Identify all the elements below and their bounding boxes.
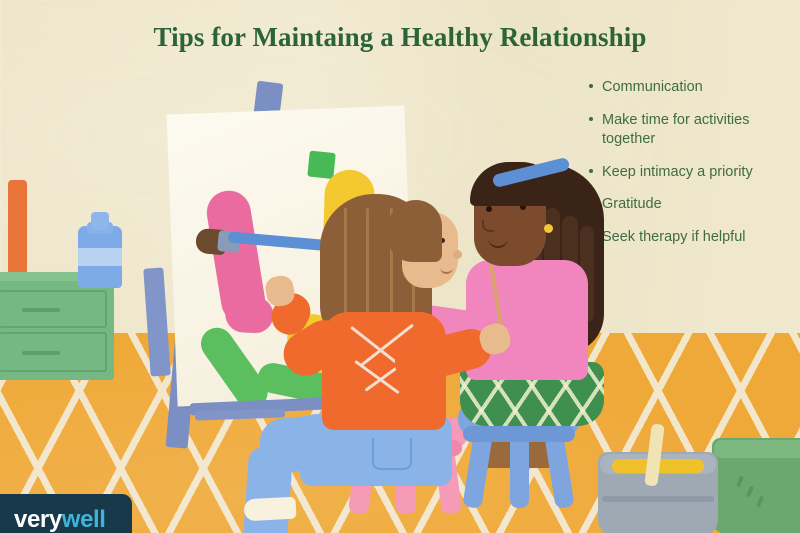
dresser-handle-lower — [22, 351, 60, 355]
bucket-band — [602, 496, 714, 502]
tip-label: Make time for activities together — [602, 112, 749, 148]
bottle-cap — [91, 212, 109, 230]
person-left-hair-front — [388, 200, 442, 262]
person-right-earring — [544, 224, 553, 233]
person-left-jeans-pocket — [372, 438, 412, 470]
bullet-icon — [589, 84, 593, 88]
green-bucket — [712, 438, 800, 533]
green-bucket-mark-2 — [746, 486, 754, 498]
person-left-nose — [453, 250, 462, 259]
tip-label: Communication — [602, 79, 703, 95]
person-left — [290, 176, 500, 506]
verywell-logo[interactable]: verywell — [0, 494, 132, 533]
bullet-icon — [589, 117, 593, 121]
lace-strand-3 — [354, 360, 399, 394]
dresser-handle-upper — [22, 308, 60, 312]
list-item: Communication — [588, 78, 800, 98]
green-dresser — [0, 272, 114, 380]
infographic-card: Tips for Maintaing a Healthy Relationshi… — [0, 0, 800, 533]
green-bucket-mark-3 — [756, 496, 764, 508]
person-left-sock — [243, 497, 296, 522]
water-bottle — [78, 212, 122, 288]
list-item: Make time for activities together — [588, 111, 800, 150]
logo-text-well: well — [62, 506, 106, 533]
bottle-label-band — [78, 248, 122, 266]
green-bucket-mark-1 — [736, 476, 744, 488]
logo-text: verywell — [14, 506, 106, 533]
logo-text-very: very — [14, 506, 62, 533]
green-bucket-rim — [714, 440, 800, 458]
page-title: Tips for Maintaing a Healthy Relationshi… — [0, 22, 800, 53]
canvas-green-square — [307, 151, 335, 179]
